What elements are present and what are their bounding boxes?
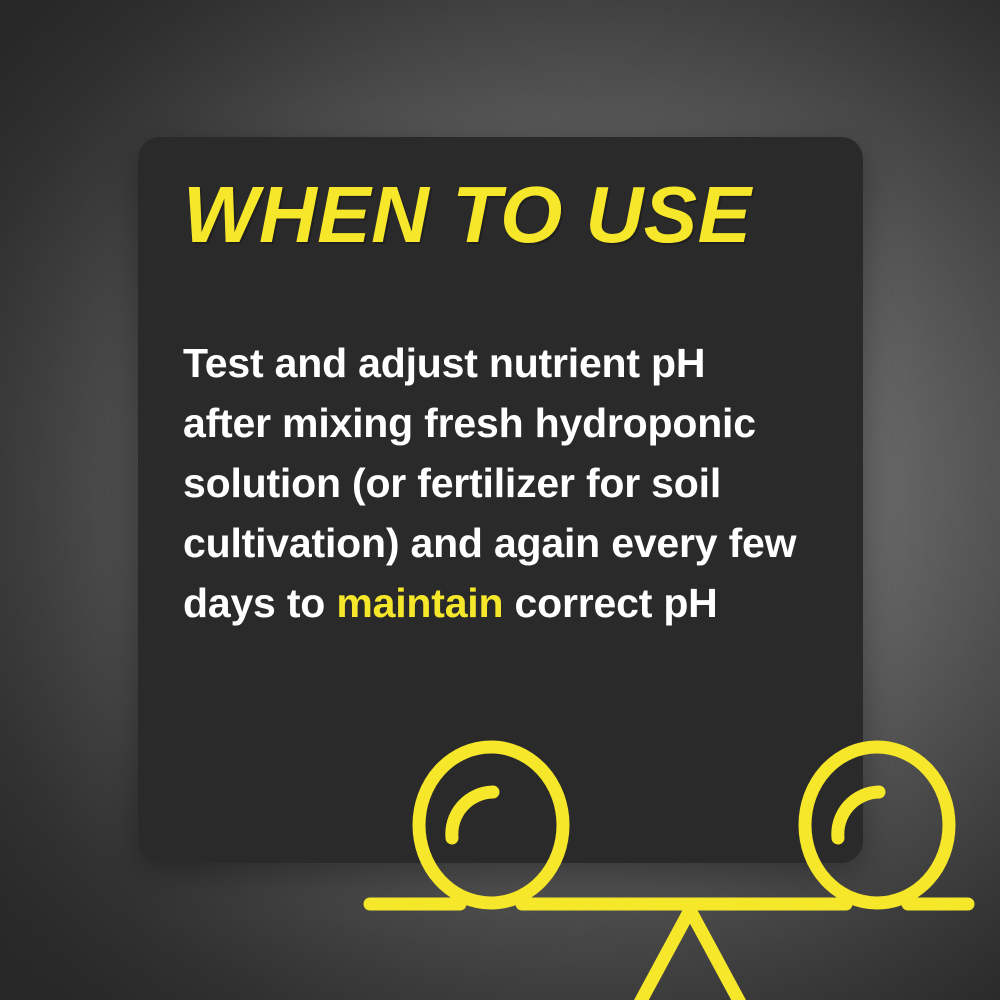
content-card: WHEN TO USE Test and adjust nutrient pH …	[138, 137, 863, 863]
body-highlight-word: maintain	[336, 580, 503, 626]
body-line-4: cultivation) and again every few	[183, 520, 796, 566]
body-line-5-tail: correct pH	[503, 580, 717, 626]
poster-canvas: WHEN TO USE Test and adjust nutrient pH …	[0, 0, 1000, 1000]
body-line-3: solution (or fertilizer for soil	[183, 460, 721, 506]
body-line-1: Test and adjust nutrient pH	[183, 340, 705, 386]
body-text: Test and adjust nutrient pH after mixing…	[183, 333, 843, 633]
body-line-5-lead: days to	[183, 580, 336, 626]
page-title: WHEN TO USE	[183, 175, 823, 255]
body-line-2: after mixing fresh hydroponic	[183, 400, 756, 446]
